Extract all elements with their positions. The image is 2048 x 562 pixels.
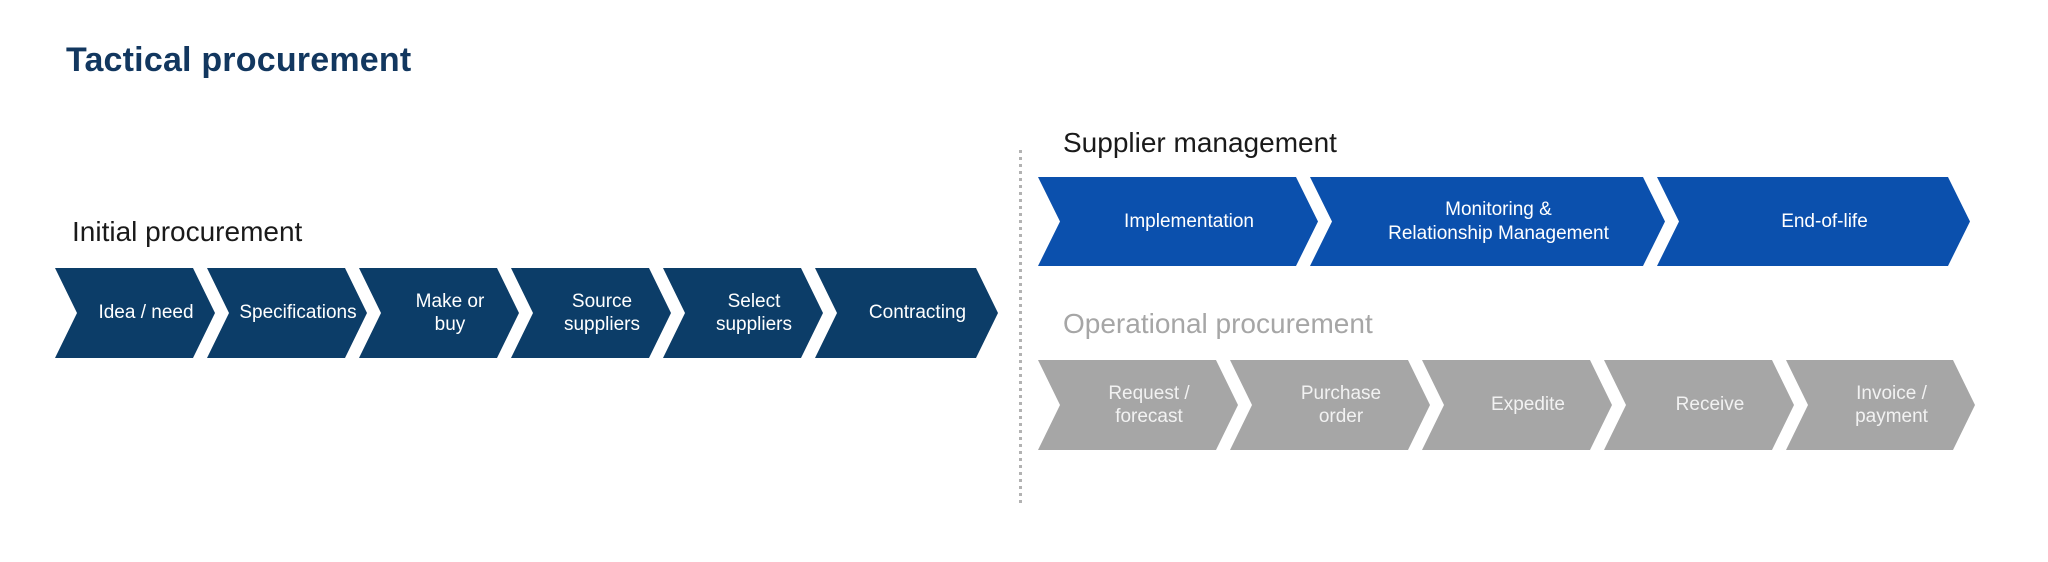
process-step-3[interactable]: Make or buy [359,268,519,358]
process-step-2[interactable]: Monitoring & Relationship Management [1310,177,1665,266]
process-step-label: Request / forecast [1086,382,1189,428]
section-heading-supplier-management: Supplier management [1063,129,1337,157]
process-step-label: Invoice / payment [1833,382,1928,428]
section-heading-initial-procurement: Initial procurement [72,218,302,246]
process-step-label: Select suppliers [694,290,792,336]
vertical-dotted-divider [1019,150,1022,506]
process-step-4[interactable]: Source suppliers [511,268,671,358]
section-heading-operational-procurement: Operational procurement [1063,310,1373,338]
process-step-label: Implementation [1102,210,1254,233]
process-step-3[interactable]: End-of-life [1657,177,1970,266]
process-step-6[interactable]: Contracting [815,268,998,358]
process-step-3[interactable]: Expedite [1422,360,1612,450]
process-step-5[interactable]: Select suppliers [663,268,823,358]
process-step-label: Contracting [847,301,966,324]
process-step-label: Source suppliers [542,290,640,336]
process-step-label: Make or buy [394,290,485,336]
process-step-1[interactable]: Implementation [1038,177,1318,266]
process-step-label: End-of-life [1759,210,1868,233]
process-step-1[interactable]: Idea / need [55,268,215,358]
process-step-label: Expedite [1469,393,1565,416]
process-step-2[interactable]: Purchase order [1230,360,1430,450]
process-step-label: Monitoring & Relationship Management [1366,198,1609,244]
slide-canvas: Tactical procurement Initial procurement… [0,0,2048,562]
process-step-5[interactable]: Invoice / payment [1786,360,1975,450]
process-step-2[interactable]: Specifications [207,268,367,358]
process-step-label: Specifications [217,301,356,324]
process-step-label: Purchase order [1279,382,1381,428]
page-title: Tactical procurement [66,41,411,80]
process-step-1[interactable]: Request / forecast [1038,360,1238,450]
process-step-4[interactable]: Receive [1604,360,1794,450]
process-step-label: Receive [1654,393,1745,416]
process-step-label: Idea / need [76,301,193,324]
